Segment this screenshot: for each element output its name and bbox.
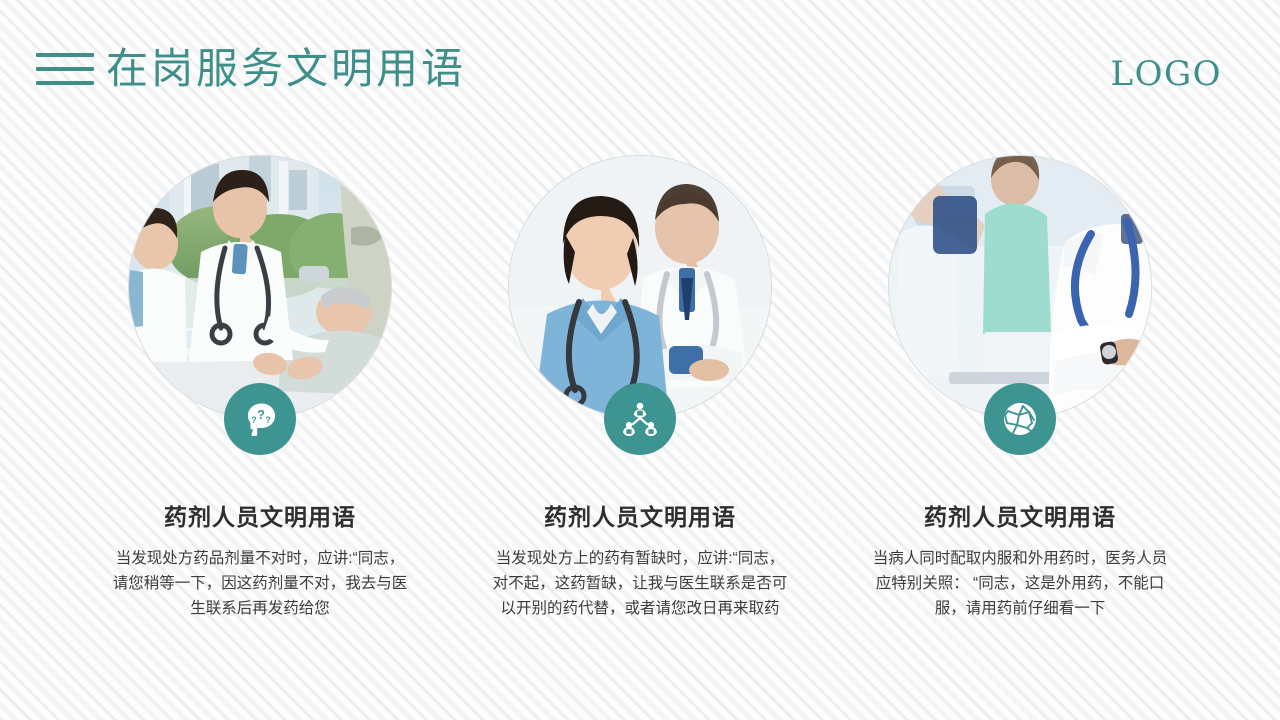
card-row: ? ? ? 药剂人员文明用语 当发现处方药品剂量不对时，应讲:“同志，请您稍等一…: [0, 155, 1280, 621]
photo-wrap: [888, 155, 1152, 419]
card-item: 药剂人员文明用语 当发现处方上的药有暂缺时，应讲:“同志，对不起，这药暂缺，让我…: [450, 155, 830, 621]
card-heading: 药剂人员文明用语: [924, 502, 1116, 532]
photo-circle: [888, 155, 1152, 419]
hamburger-bar-2: [36, 67, 94, 71]
nurse-and-doctor-portrait-photo: [509, 156, 771, 418]
slide-header: 在岗服务文明用语 LOGO: [0, 0, 1280, 140]
photo-circle: [128, 155, 392, 419]
page-title: 在岗服务文明用语: [106, 40, 466, 98]
slide-root: 在岗服务文明用语 LOGO: [0, 0, 1280, 720]
hamburger-icon[interactable]: [36, 53, 94, 85]
card-item: 药剂人员文明用语 当病人同时配取内服和外用药时，医务人员应特别关照： “同志，这…: [830, 155, 1210, 621]
svg-text:?: ?: [251, 415, 257, 425]
logo: LOGO: [1111, 52, 1223, 96]
doctor-arms-crossed-photo: [889, 156, 1151, 418]
globe-network-icon: [984, 383, 1056, 455]
photo-wrap: ? ? ?: [128, 155, 392, 419]
photo-wrap: [508, 155, 772, 419]
head-question-icon: ? ? ?: [224, 383, 296, 455]
card-body: 当发现处方上的药有暂缺时，应讲:“同志，对不起，这药暂缺，让我与医生联系是否可以…: [490, 546, 790, 621]
card-item: ? ? ? 药剂人员文明用语 当发现处方药品剂量不对时，应讲:“同志，请您稍等一…: [70, 155, 450, 621]
svg-text:?: ?: [265, 415, 271, 425]
card-body: 当发现处方药品剂量不对时，应讲:“同志，请您稍等一下，因这药剂量不对，我去与医生…: [110, 546, 410, 621]
photo-circle: [508, 155, 772, 419]
card-heading: 药剂人员文明用语: [544, 502, 736, 532]
hamburger-bar-1: [36, 53, 94, 57]
doctor-with-bedridden-patient-photo: [129, 156, 391, 418]
hamburger-bar-3: [36, 81, 94, 85]
card-heading: 药剂人员文明用语: [164, 502, 356, 532]
team-network-icon: [604, 383, 676, 455]
svg-text:?: ?: [257, 407, 265, 422]
card-body: 当病人同时配取内服和外用药时，医务人员应特别关照： “同志，这是外用药，不能口服…: [872, 546, 1168, 621]
